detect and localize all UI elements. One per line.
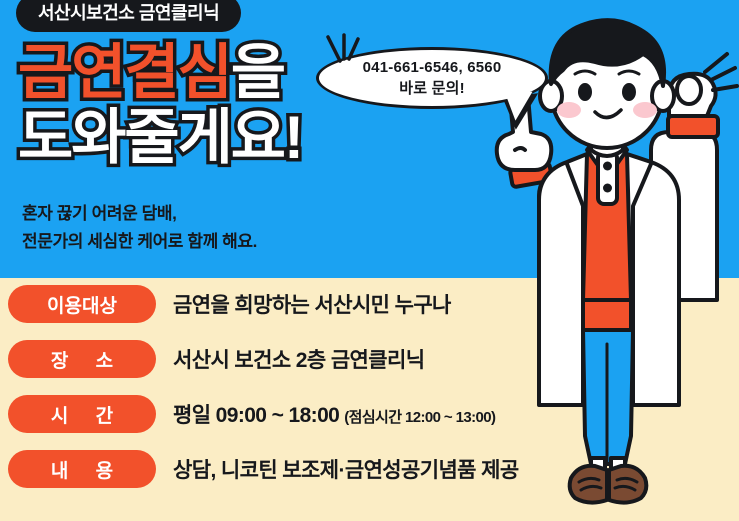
info-row-services: 내 용 상담, 니코틴 보조제·금연성공기념품 제공 <box>8 449 519 489</box>
info-row-target: 이용대상 금연을 희망하는 서산시민 누구나 <box>8 284 519 324</box>
speech-bubble-tail-fill <box>506 92 536 122</box>
info-row-list: 이용대상 금연을 희망하는 서산시민 누구나 장 소 서산시 보건소 2층 금연… <box>8 284 519 504</box>
headline: 금연결심을 도와줄게요! <box>18 44 302 168</box>
headline-line-1: 금연결심을 <box>18 44 302 103</box>
subcopy-line-1: 혼자 끊기 어려운 담배, <box>22 200 257 228</box>
info-row-hours: 시 간 평일 09:00 ~ 18:00(점심시간 12:00 ~ 13:00) <box>8 394 519 434</box>
info-row-label-target: 이용대상 <box>8 285 156 323</box>
clinic-badge: 서산시보건소 금연클리닉 <box>16 0 241 32</box>
headline-line-1-red: 금연결심 <box>18 44 231 103</box>
info-row-location: 장 소 서산시 보건소 2층 금연클리닉 <box>8 339 519 379</box>
subcopy: 혼자 끊기 어려운 담배, 전문가의 세심한 케어로 함께 해요. <box>22 200 257 255</box>
info-row-label-hours: 시 간 <box>8 395 156 433</box>
hours-lunch-note: (점심시간 12:00 ~ 13:00) <box>344 409 495 426</box>
info-row-value-hours: 평일 09:00 ~ 18:00(점심시간 12:00 ~ 13:00) <box>173 399 495 429</box>
info-row-value-services: 상담, 니코틴 보조제·금연성공기념품 제공 <box>173 454 519 484</box>
clinic-phone-number: 041-661-6546, 6560 <box>316 57 548 78</box>
poster-canvas: 서산시보건소 금연클리닉 금연결심을 도와줄게요! 혼자 끊기 어려운 담배, … <box>0 0 739 521</box>
hours-main: 평일 09:00 ~ 18:00 <box>173 404 339 427</box>
info-row-value-location: 서산시 보건소 2층 금연클리닉 <box>173 344 424 374</box>
headline-line-2: 도와줄게요! <box>18 109 302 168</box>
info-row-label-location: 장 소 <box>8 340 156 378</box>
speech-bubble: 041-661-6546, 6560 바로 문의! <box>316 47 548 109</box>
subcopy-line-2: 전문가의 세심한 케어로 함께 해요. <box>22 228 257 256</box>
info-row-label-services: 내 용 <box>8 450 156 488</box>
info-row-value-target: 금연을 희망하는 서산시민 누구나 <box>173 289 451 319</box>
headline-line-1-white: 을 <box>231 44 284 103</box>
